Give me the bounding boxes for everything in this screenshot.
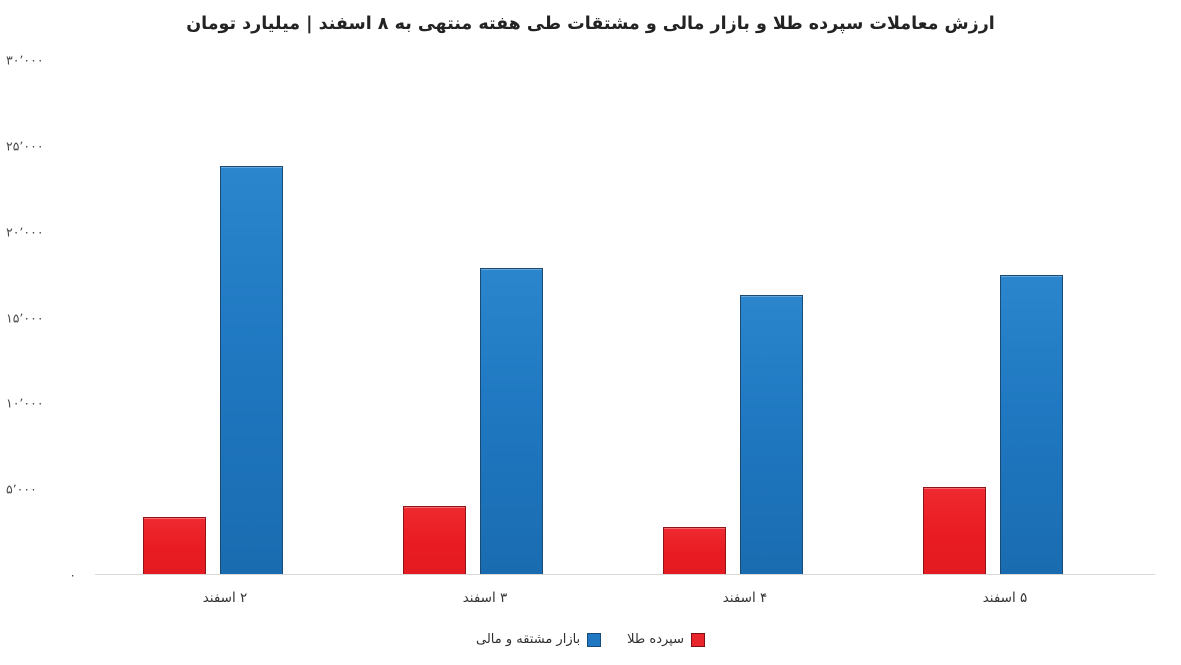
y-axis-tick-10000: ۱۰٬۰۰۰ <box>6 396 86 411</box>
bar-group-2 <box>355 60 615 575</box>
legend-item-gold-deposit[interactable]: سپرده طلا <box>627 632 705 647</box>
y-axis-tick-5000: ۵٬۰۰۰ <box>6 482 86 497</box>
bar-groups <box>95 60 1155 575</box>
bar-group-1 <box>95 60 355 575</box>
bar-gold-deposit-2 <box>403 506 466 575</box>
y-axis-tick-15000: ۱۵٬۰۰۰ <box>6 310 86 325</box>
plot-area <box>95 60 1155 575</box>
bar-derivatives-market-3 <box>740 295 803 575</box>
legend-label: بازار مشتقه و مالی <box>476 632 580 647</box>
bar-derivatives-market-1 <box>220 166 283 575</box>
y-axis-tick-30000: ۳۰٬۰۰۰ <box>6 53 86 68</box>
bar-gold-deposit-1 <box>143 517 206 575</box>
legend-label: سپرده طلا <box>627 632 684 647</box>
y-axis-tick-25000: ۲۵٬۰۰۰ <box>6 138 86 153</box>
bar-chart: ارزش معاملات سپرده طلا و بازار مالی و مش… <box>0 0 1181 665</box>
chart-legend: سپرده طلابازار مشتقه و مالی <box>0 632 1181 647</box>
bar-derivatives-market-4 <box>1000 275 1063 575</box>
x-axis-label-4: ۵ اسفند <box>875 590 1135 606</box>
chart-title: ارزش معاملات سپرده طلا و بازار مالی و مش… <box>0 14 1181 34</box>
zero-axis-line <box>95 574 1155 575</box>
bar-group-4 <box>875 60 1135 575</box>
bar-group-3 <box>615 60 875 575</box>
bar-derivatives-market-2 <box>480 268 543 575</box>
y-axis-tick-0: ۰ <box>16 568 76 583</box>
x-axis-label-3: ۴ اسفند <box>615 590 875 606</box>
legend-item-derivatives-market[interactable]: بازار مشتقه و مالی <box>476 632 601 647</box>
legend-swatch-icon <box>587 633 601 647</box>
x-axis-label-2: ۳ اسفند <box>355 590 615 606</box>
bar-gold-deposit-3 <box>663 527 726 575</box>
x-axis-label-1: ۲ اسفند <box>95 590 355 606</box>
y-axis-tick-20000: ۲۰٬۰۰۰ <box>6 224 86 239</box>
legend-swatch-icon <box>691 633 705 647</box>
bar-gold-deposit-4 <box>923 487 986 575</box>
